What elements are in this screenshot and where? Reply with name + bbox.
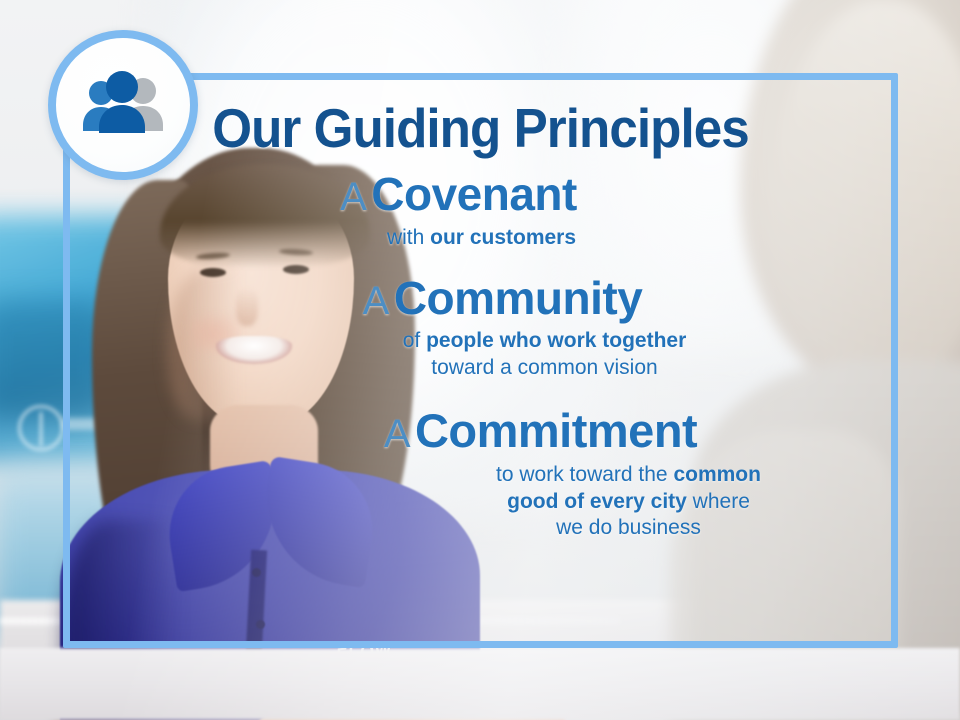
principle-word: Community	[394, 272, 643, 324]
desk-foreground	[0, 648, 960, 720]
principle-word: Commitment	[415, 404, 697, 457]
text-content: Our Guiding Principles A Covenant with o…	[63, 73, 898, 648]
guiding-principles-graphic: FLOW AUTOMOTIVE FLOW	[0, 0, 960, 720]
principle-covenant: A Covenant with our customers	[81, 170, 880, 252]
subtext-emphasis-2: good of every city	[507, 490, 687, 513]
principle-article: A	[384, 412, 411, 456]
principle-heading: A Covenant	[81, 170, 836, 220]
principle-article: A	[340, 175, 367, 219]
principles-list: A Covenant with our customers A Communit…	[81, 170, 880, 542]
subtext-emphasis: our customers	[430, 226, 576, 249]
principle-community: A Community of people who work together …	[81, 274, 880, 382]
subtext-lead: with	[387, 226, 430, 249]
principle-word: Covenant	[371, 168, 577, 220]
page-title: Our Guiding Principles	[109, 101, 852, 156]
subtext-emphasis-1: common	[673, 463, 761, 486]
principle-subtext: with our customers	[81, 225, 836, 252]
subtext-line2: toward a common vision	[431, 356, 657, 379]
principle-commitment: A Commitment to work toward the common g…	[81, 406, 880, 542]
principle-heading: A Community	[125, 274, 880, 324]
principle-subtext: to work toward the common good of every …	[201, 462, 880, 543]
principle-subtext: of people who work together toward a com…	[125, 328, 880, 382]
subtext-lead: to work toward the	[496, 463, 673, 486]
subtext-emphasis: people who work together	[426, 329, 686, 352]
subtext-line3: we do business	[556, 516, 701, 539]
principle-article: A	[363, 279, 390, 323]
subtext-lead: of	[403, 329, 426, 352]
subtext-trail: where	[687, 490, 750, 513]
principle-heading: A Commitment	[201, 406, 880, 457]
